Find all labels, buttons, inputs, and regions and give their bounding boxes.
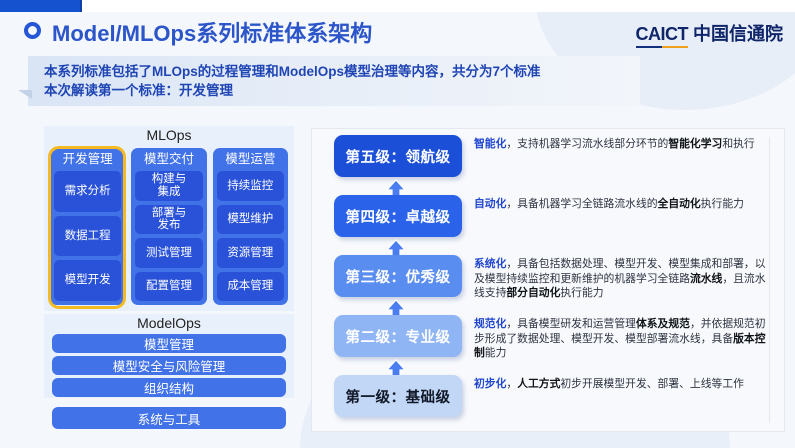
page-title: Model/MLOps系列标准体系架构 (52, 16, 372, 48)
subtitle-line-2: 本次解读第一个标准：开发管理 (44, 81, 634, 100)
maturity-level-description: 初步化，人工方式初步开展模型开发、部署、上线等工作 (474, 377, 768, 392)
mlops-group: MLOps 开发管理需求分析数据工程模型开发模型交付构建与 集成部署与 发布测试… (44, 126, 294, 311)
top-blue-stub (0, 0, 82, 12)
mlops-column-header: 开发管理 (54, 151, 121, 167)
maturity-level-pill[interactable]: 第四级：卓越级 (334, 195, 462, 237)
maturity-level-keyword: 自动化 (474, 198, 506, 210)
desc-emphasis: 全自动化 (658, 198, 701, 210)
mlops-column-header: 模型交付 (135, 151, 202, 167)
desc-text: 和执行 (722, 138, 754, 150)
mlops-column-3[interactable]: 模型运营持续监控模型维护资源管理成本管理 (213, 148, 288, 305)
desc-emphasis: 体系及规范 (636, 318, 690, 330)
desc-text: ，具备模型研发和运营管理 (506, 318, 636, 330)
logo-en-text: CAICT (636, 24, 689, 48)
mlops-item-chip[interactable]: 模型维护 (217, 205, 284, 235)
mlops-column-items: 需求分析数据工程模型开发 (54, 171, 121, 301)
mlops-item-chip[interactable]: 模型开发 (54, 260, 121, 301)
system-and-tools-bar[interactable]: 系统与工具 (52, 407, 286, 429)
modelops-bar[interactable]: 模型管理 (52, 334, 286, 353)
mlops-column-items: 持续监控模型维护资源管理成本管理 (217, 171, 284, 301)
mlops-column-items: 构建与 集成部署与 发布测试管理配置管理 (135, 171, 202, 301)
mlops-columns: 开发管理需求分析数据工程模型开发模型交付构建与 集成部署与 发布测试管理配置管理… (50, 148, 288, 305)
modelops-bar-list: 模型管理模型安全与风险管理组织结构 (52, 334, 286, 393)
maturity-level-description: 系统化，具备包括数据处理、模型开发、模型集成和部署，以及模型持续监控和更新维护的… (474, 257, 768, 301)
mlops-column-header: 模型运营 (217, 151, 284, 167)
mlops-group-label: MLOps (44, 127, 294, 143)
mlops-item-chip[interactable]: 部署与 发布 (135, 205, 202, 235)
maturity-level-keyword: 系统化 (474, 258, 506, 270)
maturity-level-description: 智能化，支持机器学习流水线部分环节的智能化学习和执行 (474, 137, 768, 152)
logo-en-label: CAICT (636, 24, 689, 44)
mlops-item-chip[interactable]: 资源管理 (217, 238, 284, 268)
logo-underline-blue (636, 46, 662, 49)
maturity-level-keyword: 智能化 (474, 138, 506, 150)
desc-emphasis: 流水线 (690, 273, 722, 285)
mlops-item-chip[interactable]: 持续监控 (217, 171, 284, 201)
modelops-group: ModelOps 模型管理模型安全与风险管理组织结构 (44, 314, 294, 398)
maturity-level-pill[interactable]: 第二级：专业级 (334, 315, 462, 357)
desc-text: ，支持机器学习流水线部分环节的 (506, 138, 668, 150)
desc-text: 执行能力 (560, 287, 603, 299)
desc-text: 执行能力 (701, 198, 744, 210)
modelops-group-label: ModelOps (44, 315, 294, 331)
desc-text: 初步开展模型开发、部署、上线等工作 (560, 378, 744, 390)
subtitle-text: 本系列标准包括了MLOps的过程管理和ModelOps模型治理等内容，共分为7个… (44, 62, 634, 100)
modelops-bar[interactable]: 组织结构 (52, 378, 286, 397)
logo-underline-orange (662, 46, 688, 49)
maturity-level-pill[interactable]: 第一级：基础级 (334, 375, 462, 417)
maturity-level-description: 规范化，具备模型研发和运营管理体系及规范，并依据规范初步形成了数据处理、模型开发… (474, 317, 768, 361)
mlops-item-chip[interactable]: 成本管理 (217, 272, 284, 302)
ring-icon (24, 22, 41, 39)
subtitle-banner: 本系列标准包括了MLOps的过程管理和ModelOps模型治理等内容，共分为7个… (28, 56, 640, 106)
logo-cn-text: 中国信通院 (693, 20, 783, 46)
maturity-levels-panel: 第五级：领航级智能化，支持机器学习流水线部分环节的智能化学习和执行第四级：卓越级… (311, 128, 785, 432)
desc-emphasis: 智能化学习 (668, 138, 722, 150)
mlops-item-chip[interactable]: 配置管理 (135, 272, 202, 302)
maturity-level-pill[interactable]: 第三级：优秀级 (334, 255, 462, 297)
mlops-item-chip[interactable]: 需求分析 (54, 171, 121, 212)
top-white-strip (80, 0, 795, 12)
desc-emphasis: 人工方式 (517, 378, 560, 390)
maturity-level-keyword: 规范化 (474, 318, 506, 330)
desc-emphasis: 部分自动化 (506, 287, 560, 299)
standards-architecture-panel: MLOps 开发管理需求分析数据工程模型开发模型交付构建与 集成部署与 发布测试… (44, 126, 294, 431)
maturity-level-description: 自动化，具备机器学习全链路流水线的全自动化执行能力 (474, 197, 768, 212)
mlops-column-1[interactable]: 开发管理需求分析数据工程模型开发 (50, 148, 125, 305)
desc-text: ，具备机器学习全链路流水线的 (506, 198, 657, 210)
mlops-item-chip[interactable]: 构建与 集成 (135, 171, 202, 201)
mlops-column-2[interactable]: 模型交付构建与 集成部署与 发布测试管理配置管理 (131, 148, 206, 305)
maturity-level-pill[interactable]: 第五级：领航级 (334, 135, 462, 177)
modelops-bar[interactable]: 模型安全与风险管理 (52, 356, 286, 375)
panel-divider (769, 137, 770, 423)
slide-header: Model/MLOps系列标准体系架构 CAICT 中国信通院 (0, 12, 795, 50)
maturity-level-keyword: 初步化 (474, 378, 506, 390)
mlops-item-chip[interactable]: 测试管理 (135, 238, 202, 268)
slide-canvas: Model/MLOps系列标准体系架构 CAICT 中国信通院 本系列标准包括了… (0, 0, 795, 448)
caict-logo: CAICT 中国信通院 (636, 20, 784, 48)
desc-text: ， (506, 378, 517, 390)
mlops-item-chip[interactable]: 数据工程 (54, 216, 121, 257)
subtitle-line-1: 本系列标准包括了MLOps的过程管理和ModelOps模型治理等内容，共分为7个… (44, 62, 634, 81)
desc-text: 能力 (485, 347, 507, 359)
